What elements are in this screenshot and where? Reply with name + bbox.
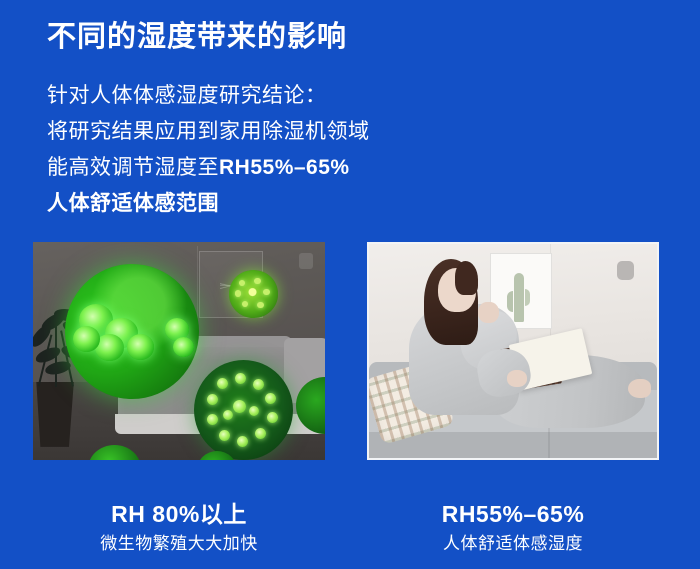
body-line-3-highlight: RH55%–65% [219,156,350,179]
body-copy: 针对人体体感湿度研究结论： 将研究结果应用到家用除湿机领域 能高效调节湿度至RH… [47,78,370,222]
photo-high-humidity [33,242,325,460]
wall-speaker-icon [617,261,634,280]
caption-high-humidity: RH 80%以上 微生物繁殖大大加快 [33,500,325,557]
body-line-1: 针对人体体感湿度研究结论： [47,78,370,114]
virus-sphere-large [194,360,293,460]
page-title: 不同的湿度带来的影响 [47,18,347,56]
woman-foot [628,379,651,398]
humidity-infographic-poster: 不同的湿度带来的影响 针对人体体感湿度研究结论： 将研究结果应用到家用除湿机领域… [0,0,700,569]
caption-right-main: RH55%–65% [367,500,659,528]
body-line-3: 能高效调节湿度至RH55%–65% [47,150,370,186]
body-line-4: 人体舒适体感范围 [47,186,370,222]
caption-left-sub: 微生物繁殖大大加快 [33,531,325,557]
wall-knob-icon [299,253,313,269]
body-line-3-prefix: 能高效调节湿度至 [47,156,219,179]
body-line-2: 将研究结果应用到家用除湿机领域 [47,114,370,150]
caption-comfort-humidity: RH55%–65% 人体舒适体感湿度 [367,500,659,557]
woman-hand-on-head [478,302,498,323]
caption-left-main: RH 80%以上 [33,500,325,528]
photo-comfort-humidity [367,242,659,460]
microbe-cluster-large [65,264,199,399]
caption-right-sub: 人体舒适体感湿度 [367,531,659,557]
virus-sphere-small [229,270,279,318]
